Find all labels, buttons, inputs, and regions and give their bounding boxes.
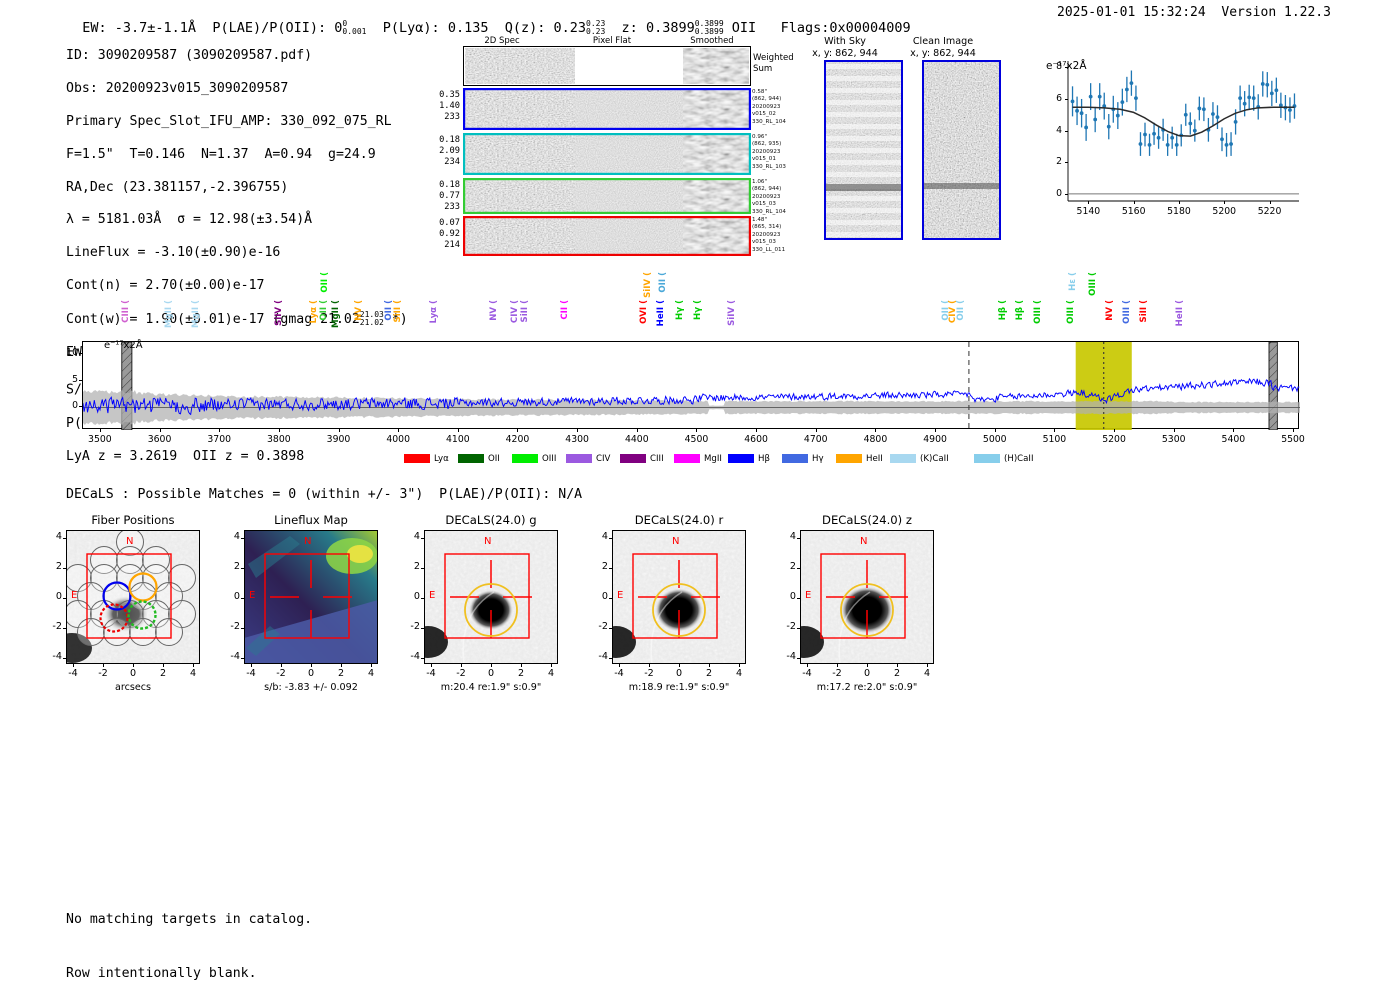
- panel-3-ytick-mark: [609, 598, 612, 599]
- spectrum-xtick-label: 3800: [253, 434, 305, 445]
- panel-image-decals-4[interactable]: [800, 530, 934, 664]
- panel-2-ytick-mark: [421, 538, 424, 539]
- spectrum-line-label-MgII: MgII (: [331, 300, 341, 328]
- panel-2-ytick-label: -2: [402, 621, 420, 632]
- spectrum-line-label-HeII: HeII (: [656, 300, 666, 326]
- panel-3-xtick-label: -2: [635, 668, 663, 679]
- spectrum-xtick-label: 4900: [909, 434, 961, 445]
- panel-2-xtick-label: -2: [447, 668, 475, 679]
- spectrum-xtick-mark: [1174, 429, 1175, 432]
- panel-1-xtick-label: 2: [327, 668, 355, 679]
- spectrum-xtick-label: 5400: [1207, 434, 1259, 445]
- spec2d-row-3-left-label: 0.07 0.92 214: [428, 218, 460, 251]
- panel-3-xtick-mark: [649, 664, 650, 667]
- panel-2-xtick-label: 2: [507, 668, 535, 679]
- compass-east-4: E: [805, 590, 811, 601]
- panel-3-ytick-mark: [609, 658, 612, 659]
- legend-swatch-HeII: [836, 454, 862, 463]
- panel-title-decals-4: DECaLS(24.0) z: [774, 513, 960, 527]
- spec2d-row-0-meta-label: 0.58" (862, 944) 20200923 v015_02 330_RL…: [752, 89, 804, 126]
- linefit-ytick-mark: [1065, 131, 1068, 132]
- panel-4-xtick-label: 4: [913, 668, 941, 679]
- panel-2-ytick-label: 0: [402, 591, 420, 602]
- panel-3-ytick-label: -4: [590, 651, 608, 662]
- spectrum-line-label-MgII: MgII (: [164, 300, 174, 328]
- panel-2-ytick-mark: [421, 628, 424, 629]
- spec2d-row-1-left-label: 0.18 2.09 234: [428, 135, 460, 168]
- legend-swatch-OII: [458, 454, 484, 463]
- spectrum-xtick-mark: [1114, 429, 1115, 432]
- panel-0-ytick-mark: [63, 598, 66, 599]
- legend-label-HCaII: (H)CaII: [1004, 454, 1034, 464]
- spectrum-xtick-label: 5200: [1088, 434, 1140, 445]
- panel-1-ytick-mark: [241, 568, 244, 569]
- panel-4-ytick-label: -2: [778, 621, 796, 632]
- compass-north-3: N: [672, 536, 679, 547]
- panel-0-xtick-label: 2: [149, 668, 177, 679]
- panel-0-ytick-mark: [63, 538, 66, 539]
- header-z-species: OII: [732, 20, 756, 36]
- spectrum-line-label-SiII: SiII (: [520, 300, 530, 322]
- spectrum-line-label-OII: OII (: [658, 272, 668, 293]
- spectrum-xtick-label: 3700: [193, 434, 245, 445]
- panel-0-xtick-mark: [163, 664, 164, 667]
- spectrum-xtick-label: 4200: [491, 434, 543, 445]
- spectrum-xtick-label: 4000: [372, 434, 424, 445]
- panel-1-ytick-label: 2: [222, 561, 240, 572]
- linefit-xtick-label: 5160: [1112, 206, 1156, 217]
- panel-4-ytick-mark: [797, 568, 800, 569]
- spectrum-xtick-mark: [458, 429, 459, 432]
- spectrum-xtick-label: 3500: [74, 434, 126, 445]
- info-line-lineflux: LineFlux = -3.10(±0.90)e-16: [66, 245, 408, 261]
- info-line-seeing: F=1.5" T=0.146 N=1.37 A=0.94 g=24.9: [66, 147, 408, 163]
- spectrum-line-label-CIV: CIV (: [510, 300, 520, 323]
- panel-3-xtick-label: 4: [725, 668, 753, 679]
- spectrum-xtick-mark: [339, 429, 340, 432]
- spectrum-line-label-OIII: OIII (: [1066, 300, 1076, 324]
- spectrum-xtick-mark: [219, 429, 220, 432]
- spectrum-xtick-mark: [1054, 429, 1055, 432]
- panel-4-ytick-label: -4: [778, 651, 796, 662]
- legend-label-Ly: Lyα: [434, 454, 449, 464]
- legend-label-CIII: CIII: [650, 454, 664, 464]
- spectrum-line-label-HeII: HeII (: [1175, 300, 1185, 326]
- info-line-primary-spec: Primary Spec_Slot_IFU_AMP: 330_092_075_R…: [66, 114, 408, 130]
- linefit-xtick-mark: [1134, 201, 1135, 204]
- weighted-sum-spec2d: [463, 46, 751, 86]
- linefit-xtick-label: 5200: [1202, 206, 1246, 217]
- footer-line-2: Row intentionally blank.: [66, 965, 312, 983]
- panel-4-ytick-mark: [797, 538, 800, 539]
- legend-label-MgII: MgII: [704, 454, 722, 464]
- panel-0-xtick-mark: [103, 664, 104, 667]
- spectrum-xtick-label: 4500: [670, 434, 722, 445]
- spectrum-line-label-NV: NV (: [354, 300, 364, 321]
- header-flags: Flags:0x00004009: [781, 20, 911, 36]
- panel-1-xtick-mark: [281, 664, 282, 667]
- panel-title-fibers-0: Fiber Positions: [40, 513, 226, 527]
- spectrum-line-label-NV: NV (: [489, 300, 499, 321]
- spec2d-row-0-left-label: 0.35 1.40 233: [428, 90, 460, 123]
- panel-3-xtick-mark: [709, 664, 710, 667]
- info-line-id: ID: 3090209587 (3090209587.pdf): [66, 48, 408, 64]
- header-qz-label: Q(z):: [505, 20, 546, 36]
- panel-1-ytick-label: -2: [222, 621, 240, 632]
- panel-0-ytick-label: 0: [44, 591, 62, 602]
- panel-caption-2: m:20.4 re:1.9" s:0.9": [394, 682, 588, 693]
- full-spectrum-plot: [82, 341, 1299, 429]
- header-qz-value: 0.23: [554, 20, 587, 36]
- legend-swatch-HCaII: [974, 454, 1000, 463]
- panel-3-ytick-label: -2: [590, 621, 608, 632]
- panel-4-xtick-mark: [807, 664, 808, 667]
- panel-2-xtick-label: 0: [477, 668, 505, 679]
- panel-1-ytick-mark: [241, 658, 244, 659]
- legend-swatch-KCaII: [890, 454, 916, 463]
- spectrum-line-label-NV: NV (: [1105, 300, 1115, 321]
- linefit-xtick-mark: [1224, 201, 1225, 204]
- spectrum-xtick-mark: [935, 429, 936, 432]
- panel-2-ytick-mark: [421, 568, 424, 569]
- legend-swatch-H: [782, 454, 808, 463]
- spectrum-ytick-label: 0: [56, 400, 78, 411]
- spectrum-xtick-mark: [696, 429, 697, 432]
- panel-4-ytick-mark: [797, 658, 800, 659]
- panel-3-ytick-mark: [609, 628, 612, 629]
- spec2d-row-2-left-label: 0.18 0.77 233: [428, 180, 460, 213]
- info-line-redshifts: LyA z = 3.2619 OII z = 0.3898: [66, 449, 408, 465]
- panel-0-ytick-mark: [63, 658, 66, 659]
- legend-swatch-MgII: [674, 454, 700, 463]
- info-line-wavelength: λ = 5181.03Å σ = 12.98(±3.54)Å: [66, 212, 408, 228]
- spectrum-line-label-Ly: Lyα (: [309, 300, 319, 323]
- compass-north-0: N: [126, 536, 133, 547]
- linefit-xtick-mark: [1270, 201, 1271, 204]
- panel-1-xtick-label: -2: [267, 668, 295, 679]
- legend-label-H: Hβ: [758, 454, 770, 464]
- panel-1-ytick-mark: [241, 538, 244, 539]
- spec2d-row-1-image: [463, 133, 751, 175]
- spectrum-ytick-mark: [79, 353, 82, 354]
- linefit-ytick-mark: [1065, 99, 1068, 100]
- panel-4-ytick-mark: [797, 598, 800, 599]
- panel-4-xtick-mark: [867, 664, 868, 667]
- spectrum-xtick-mark: [577, 429, 578, 432]
- panel-1-ytick-label: 4: [222, 531, 240, 542]
- panel-2-ytick-mark: [421, 658, 424, 659]
- panel-4-ytick-label: 2: [778, 561, 796, 572]
- spectrum-line-label-Ly: Lyα (: [429, 300, 439, 323]
- spectrum-line-label-OIII: OIII (: [1033, 300, 1043, 324]
- panel-3-xtick-label: 2: [695, 668, 723, 679]
- spectrum-line-label-MgII: MgII (: [191, 300, 201, 328]
- spectrum-xtick-label: 5000: [969, 434, 1021, 445]
- spectrum-line-label-CII: CII (: [560, 300, 570, 320]
- spectrum-xtick-mark: [398, 429, 399, 432]
- panel-4-xtick-mark: [837, 664, 838, 667]
- panel-1-xtick-label: 0: [297, 668, 325, 679]
- panel-1-xtick-mark: [341, 664, 342, 667]
- panel-2-xtick-mark: [491, 664, 492, 667]
- spec2d-row-1-meta-label: 0.96" (862, 935) 20200923 v015_01 330_RL…: [752, 134, 804, 171]
- panel-0-ytick-mark: [63, 568, 66, 569]
- spectrum-line-label-H: Hγ (: [675, 300, 685, 320]
- spectrum-line-label-SiIV: SiIV (: [727, 300, 737, 326]
- spectrum-xtick-mark: [637, 429, 638, 432]
- panel-4-xtick-label: 2: [883, 668, 911, 679]
- panel-caption-1: s/b: -3.83 +/- 0.092: [214, 682, 408, 693]
- panel-0-ytick-label: -4: [44, 651, 62, 662]
- linefit-xtick-label: 5140: [1066, 206, 1110, 217]
- linefit-ytick-mark: [1065, 67, 1068, 68]
- spectrum-xtick-mark: [875, 429, 876, 432]
- linefit-ytick-label: 8: [1040, 61, 1062, 72]
- legend-label-H: Hγ: [812, 454, 824, 464]
- spec2d-row-0-image: [463, 88, 751, 130]
- legend-swatch-Ly: [404, 454, 430, 463]
- panel-0-xtick-mark: [193, 664, 194, 667]
- panel-4-xtick-label: -2: [823, 668, 851, 679]
- spec2d-row-3-meta-label: 1.48" (865, 314) 20200923 v015_03 330_LL…: [752, 217, 804, 254]
- spectrum-line-label-H: Hγ (: [693, 300, 703, 320]
- spectrum-xtick-mark: [995, 429, 996, 432]
- panel-caption-4: m:17.2 re:2.0" s:0.9": [770, 682, 964, 693]
- spectrum-line-label-SiII: SiII (: [393, 300, 403, 322]
- panel-3-ytick-label: 4: [590, 531, 608, 542]
- panel-3-xtick-label: -4: [605, 668, 633, 679]
- info-line-radec: RA,Dec (23.381157,-2.396755): [66, 180, 408, 196]
- linefit-ytick-label: 2: [1040, 156, 1062, 167]
- panel-2-xtick-label: 4: [537, 668, 565, 679]
- legend-swatch-OIII: [512, 454, 538, 463]
- weighted-sum-label: Weighted Sum: [753, 53, 794, 75]
- spectrum-line-label-H: Hβ (: [1015, 300, 1025, 320]
- spectrum-xtick-mark: [160, 429, 161, 432]
- spectrum-xtick-label: 4700: [790, 434, 842, 445]
- linefit-xtick-label: 5180: [1157, 206, 1201, 217]
- panel-3-xtick-label: 0: [665, 668, 693, 679]
- panel-1-xtick-mark: [371, 664, 372, 667]
- spectrum-units-label: e⁻¹⁷x2Å: [104, 340, 143, 351]
- spectrum-line-label-CIII: CIII (: [121, 300, 131, 323]
- linefit-ytick-label: 4: [1040, 125, 1062, 136]
- info-line-obs: Obs: 20200923v015_3090209587: [66, 81, 408, 97]
- col-header-2d-spec: 2D Spec: [462, 36, 542, 46]
- header-z-value: 0.3899: [646, 20, 695, 36]
- panel-4-ytick-mark: [797, 628, 800, 629]
- panel-0-xtick-label: 4: [179, 668, 207, 679]
- spectrum-line-label-OVI: OVI (: [639, 300, 649, 324]
- panel-1-ytick-label: 0: [222, 591, 240, 602]
- panel-3-xtick-mark: [679, 664, 680, 667]
- panel-4-xtick-label: 0: [853, 668, 881, 679]
- cutout-image-clean: [922, 60, 1001, 240]
- linefit-ytick-label: 6: [1040, 93, 1062, 104]
- panel-3-ytick-mark: [609, 568, 612, 569]
- panel-3-ytick-label: 0: [590, 591, 608, 602]
- spectrum-xtick-label: 5300: [1148, 434, 1200, 445]
- spectrum-xtick-label: 3900: [313, 434, 365, 445]
- panel-title-decals-3: DECaLS(24.0) r: [586, 513, 772, 527]
- panel-1-xtick-label: 4: [357, 668, 385, 679]
- spectrum-xtick-label: 4400: [611, 434, 663, 445]
- panel-4-xtick-mark: [927, 664, 928, 667]
- spectrum-line-label-SiIV: SiIV (: [274, 300, 284, 326]
- footer-line-1: No matching targets in catalog.: [66, 911, 312, 929]
- legend-label-OIII: OIII: [542, 454, 556, 464]
- spectrum-xtick-label: 4300: [551, 434, 603, 445]
- legend-label-CIV: CIV: [596, 454, 610, 464]
- panel-0-ytick-label: -2: [44, 621, 62, 632]
- panel-1-xtick-mark: [311, 664, 312, 667]
- legend-swatch-CIII: [620, 454, 646, 463]
- panel-2-xtick-label: -4: [417, 668, 445, 679]
- spectrum-xtick-mark: [1233, 429, 1234, 432]
- compass-east-2: E: [429, 590, 435, 601]
- panel-0-ytick-mark: [63, 628, 66, 629]
- spectrum-xtick-mark: [279, 429, 280, 432]
- linefit-ytick-label: 0: [1040, 188, 1062, 199]
- spec2d-row-2-meta-label: 1.06" (862, 944) 20200923 v015_03 330_RL…: [752, 179, 804, 216]
- panel-image-fibers-0[interactable]: [66, 530, 200, 664]
- panel-image-decals-2[interactable]: [424, 530, 558, 664]
- panel-0-ytick-label: 2: [44, 561, 62, 572]
- panel-2-xtick-mark: [431, 664, 432, 667]
- header-timestamp-version: 2025-01-01 15:32:24 Version 1.22.3: [1057, 5, 1331, 20]
- compass-north-1: N: [304, 536, 311, 547]
- compass-north-4: N: [860, 536, 867, 547]
- legend-swatch-H: [728, 454, 754, 463]
- timestamp: 2025-01-01 15:32:24: [1057, 5, 1206, 20]
- spectrum-line-label-SiII: SiII (: [1139, 300, 1149, 322]
- panel-title-lineflux-1: Lineflux Map: [218, 513, 404, 527]
- panel-4-xtick-mark: [897, 664, 898, 667]
- panel-2-xtick-mark: [521, 664, 522, 667]
- header-plya-value: 0.135: [448, 20, 489, 36]
- spectrum-line-label-OII: OII (: [319, 300, 329, 321]
- spectrum-ytick-mark: [79, 380, 82, 381]
- spectrum-ytick-label: 5: [56, 374, 78, 385]
- panel-3-ytick-mark: [609, 538, 612, 539]
- spectrum-xtick-label: 5500: [1267, 434, 1319, 445]
- spectrum-line-label-OIII: OIII (: [1088, 272, 1098, 296]
- linefit-xtick-label: 5220: [1248, 206, 1292, 217]
- spectrum-xtick-label: 3600: [134, 434, 186, 445]
- header-z-label: z:: [622, 20, 638, 36]
- linefit-ytick-mark: [1065, 194, 1068, 195]
- cutout-title-with-sky: With Skyx, y: 862, 944: [790, 36, 900, 60]
- decals-header-line: DECaLS : Possible Matches = 0 (within +/…: [66, 487, 582, 502]
- spectrum-line-label-H: Hβ (: [998, 300, 1008, 320]
- info-line-cont-n: Cont(n) = 2.70(±0.00)e-17: [66, 278, 408, 294]
- panel-2-ytick-label: 2: [402, 561, 420, 572]
- panel-1-ytick-mark: [241, 598, 244, 599]
- version: Version 1.22.3: [1221, 5, 1331, 20]
- spectrum-line-label-H: Hε (: [1068, 272, 1078, 291]
- spectrum-line-label-OII: OII (: [320, 272, 330, 293]
- panel-0-xtick-label: 0: [119, 668, 147, 679]
- spectrum-xtick-label: 4600: [730, 434, 782, 445]
- panel-2-xtick-mark: [551, 664, 552, 667]
- spectrum-xtick-mark: [517, 429, 518, 432]
- panel-caption-0: arcsecs: [36, 682, 230, 693]
- panel-caption-3: m:18.9 re:1.9" s:0.9": [582, 682, 776, 693]
- spectrum-line-label-OIII: OIII (: [1122, 300, 1132, 324]
- panel-1-xtick-label: -4: [237, 668, 265, 679]
- panel-1-ytick-label: -4: [222, 651, 240, 662]
- line-fit-plot: [1040, 57, 1303, 221]
- panel-2-xtick-mark: [461, 664, 462, 667]
- panel-image-decals-3[interactable]: [612, 530, 746, 664]
- col-header-smoothed: Smoothed: [672, 36, 752, 46]
- panel-0-xtick-label: -2: [89, 668, 117, 679]
- panel-0-xtick-mark: [73, 664, 74, 667]
- spectrum-xtick-mark: [1293, 429, 1294, 432]
- cutout-image-with-sky: [824, 60, 903, 240]
- spectrum-xtick-mark: [816, 429, 817, 432]
- linefit-ytick-mark: [1065, 162, 1068, 163]
- linefit-xtick-mark: [1179, 201, 1180, 204]
- header-qz-lo: 0.23: [586, 27, 605, 36]
- cutout-title-clean-image: Clean Imagex, y: 862, 944: [888, 36, 998, 60]
- panel-0-xtick-label: -4: [59, 668, 87, 679]
- spectrum-xtick-mark: [756, 429, 757, 432]
- panel-3-ytick-label: 2: [590, 561, 608, 572]
- spectrum-ytick-mark: [79, 406, 82, 407]
- panel-3-xtick-mark: [619, 664, 620, 667]
- spectrum-line-label-SiIV: SiIV (: [643, 272, 653, 298]
- spectrum-line-label-OII: OII (: [956, 300, 966, 321]
- panel-4-ytick-label: 4: [778, 531, 796, 542]
- spectrum-xtick-label: 5100: [1028, 434, 1080, 445]
- footer-note: No matching targets in catalog. Row inte…: [66, 875, 312, 1001]
- spectrum-xtick-label: 4100: [432, 434, 484, 445]
- col-header-pixel-flat: Pixel Flat: [572, 36, 652, 46]
- panel-0-ytick-label: 4: [44, 531, 62, 542]
- compass-east-3: E: [617, 590, 623, 601]
- compass-east-0: E: [71, 590, 77, 601]
- compass-north-2: N: [484, 536, 491, 547]
- panel-1-ytick-mark: [241, 628, 244, 629]
- spec2d-row-2-image: [463, 178, 751, 214]
- panel-3-xtick-mark: [739, 664, 740, 667]
- spectrum-xtick-mark: [100, 429, 101, 432]
- panel-0-xtick-mark: [133, 664, 134, 667]
- spectrum-ytick-label: 10: [56, 347, 78, 358]
- spec2d-row-3-image: [463, 216, 751, 256]
- panel-title-decals-2: DECaLS(24.0) g: [398, 513, 584, 527]
- panel-2-ytick-label: 4: [402, 531, 420, 542]
- legend-label-HeII: HeII: [866, 454, 883, 464]
- panel-image-lineflux-1[interactable]: [244, 530, 378, 664]
- panel-1-xtick-mark: [251, 664, 252, 667]
- legend-swatch-CIV: [566, 454, 592, 463]
- legend-label-OII: OII: [488, 454, 500, 464]
- panel-2-ytick-mark: [421, 598, 424, 599]
- compass-east-1: E: [249, 590, 255, 601]
- panel-4-ytick-label: 0: [778, 591, 796, 602]
- legend-label-KCaII: (K)CaII: [920, 454, 949, 464]
- panel-4-xtick-label: -4: [793, 668, 821, 679]
- spectrum-xtick-label: 4800: [849, 434, 901, 445]
- panel-2-ytick-label: -4: [402, 651, 420, 662]
- header-z-lo: 0.3899: [695, 27, 724, 36]
- linefit-xtick-mark: [1088, 201, 1089, 204]
